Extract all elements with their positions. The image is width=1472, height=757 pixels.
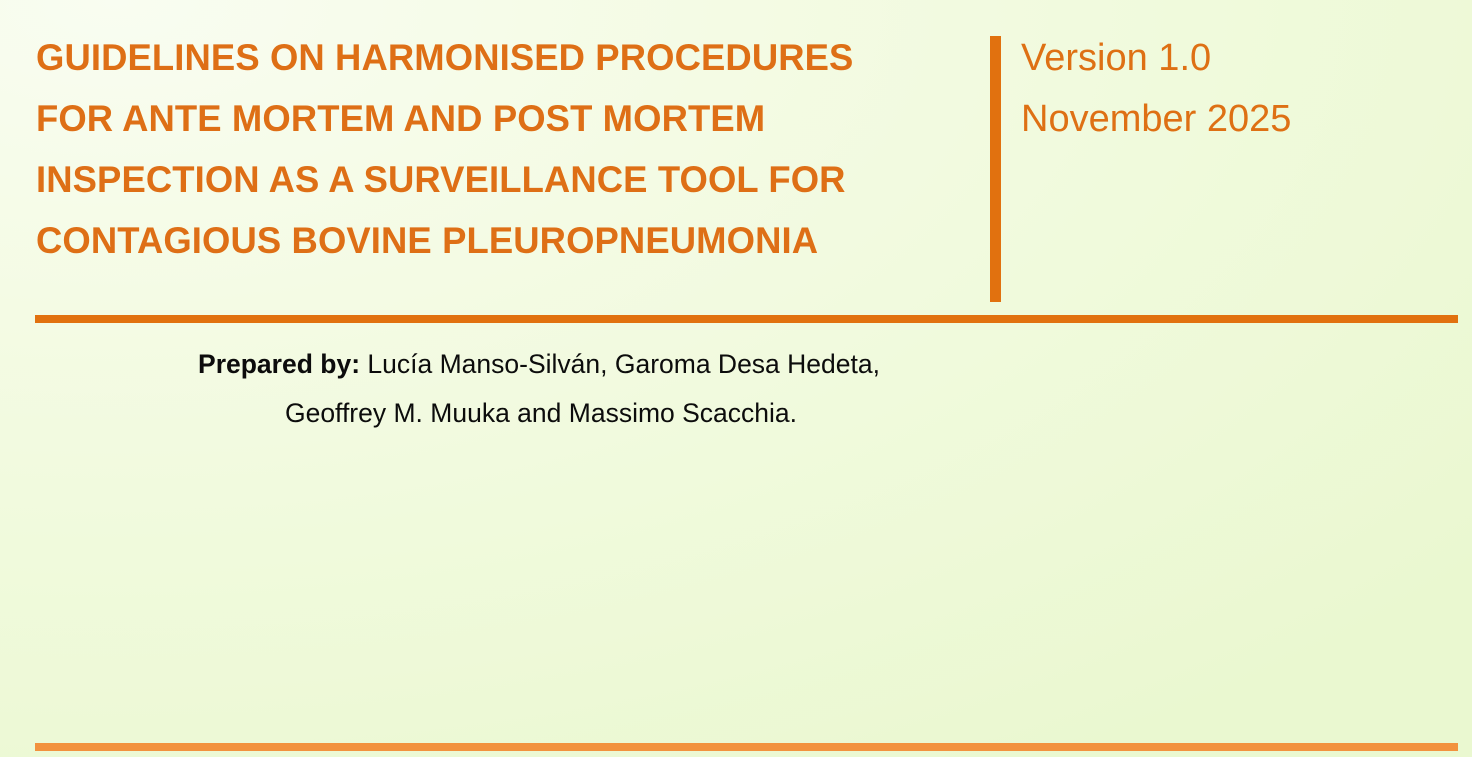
prepared-by-label: Prepared by:	[198, 349, 360, 379]
version-number-line: Version 1.0	[1021, 28, 1451, 89]
horizontal-rule-bottom	[35, 743, 1458, 751]
document-title: GUIDELINES ON HARMONISED PROCEDURES FOR …	[36, 27, 981, 271]
authors-line-2: Geoffrey M. Muuka and Massimo Scacchia.	[285, 398, 797, 428]
slide-header: GUIDELINES ON HARMONISED PROCEDURES FOR …	[0, 0, 1472, 305]
slide-body-empty-area	[36, 440, 1436, 730]
version-date-line: November 2025	[1021, 89, 1451, 150]
title-line-3: INSPECTION AS A SURVEILLANCE TOOL FOR	[36, 149, 967, 210]
prepared-by-line-2: Geoffrey M. Muuka and Massimo Scacchia.	[36, 389, 1046, 438]
title-line-4: CONTAGIOUS BOVINE PLEUROPNEUMONIA	[36, 210, 967, 271]
vertical-divider	[990, 36, 1001, 302]
prepared-by-block: Prepared by: Lucía Manso-Silván, Garoma …	[36, 340, 1046, 438]
authors-line-1: Lucía Manso-Silván, Garoma Desa Hedeta,	[360, 349, 880, 379]
title-line-2: FOR ANTE MORTEM AND POST MORTEM	[36, 88, 967, 149]
title-line-1: GUIDELINES ON HARMONISED PROCEDURES	[36, 27, 967, 88]
prepared-by-line-1: Prepared by: Lucía Manso-Silván, Garoma …	[36, 340, 1046, 389]
horizontal-rule-top	[35, 315, 1458, 323]
version-block: Version 1.0 November 2025	[1021, 28, 1451, 150]
title-slide: GUIDELINES ON HARMONISED PROCEDURES FOR …	[0, 0, 1472, 757]
